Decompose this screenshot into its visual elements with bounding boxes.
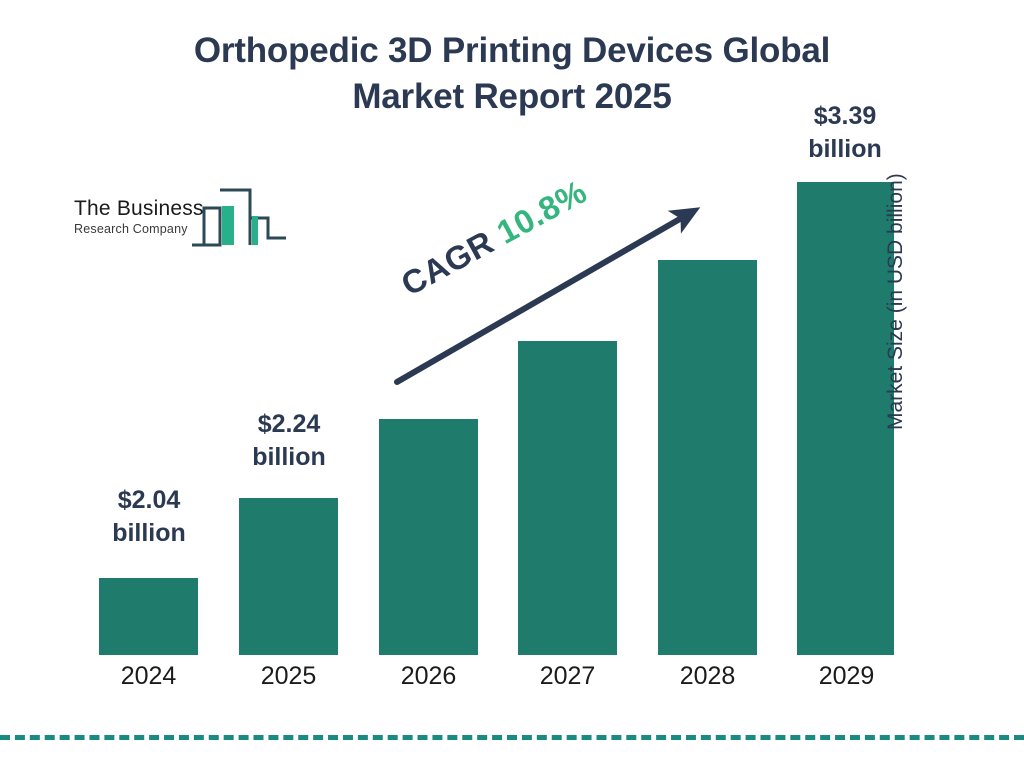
- bar-2025: [239, 498, 338, 655]
- bar-2027: [518, 341, 617, 655]
- x-tick-2025: 2025: [239, 662, 338, 691]
- bar-2024: [99, 578, 198, 655]
- footer-divider: [0, 735, 1024, 740]
- y-axis-title: Market Size (in USD billion): [884, 100, 908, 430]
- bar-2029: [797, 182, 894, 655]
- bar-value-label-2024: $2.04 billion: [75, 484, 223, 550]
- bar-value-label-2025: $2.24 billion: [215, 408, 363, 474]
- x-tick-2026: 2026: [379, 662, 478, 691]
- x-tick-2028: 2028: [658, 662, 757, 691]
- chart-canvas: Orthopedic 3D Printing Devices Global Ma…: [0, 0, 1024, 768]
- bar-2026: [379, 419, 478, 655]
- bar-2028: [658, 260, 757, 655]
- x-tick-2029: 2029: [797, 662, 896, 691]
- x-tick-2024: 2024: [99, 662, 198, 691]
- plot-area: $2.04 billion $2.24 billion $3.39 billio…: [0, 0, 1024, 768]
- x-tick-2027: 2027: [518, 662, 617, 691]
